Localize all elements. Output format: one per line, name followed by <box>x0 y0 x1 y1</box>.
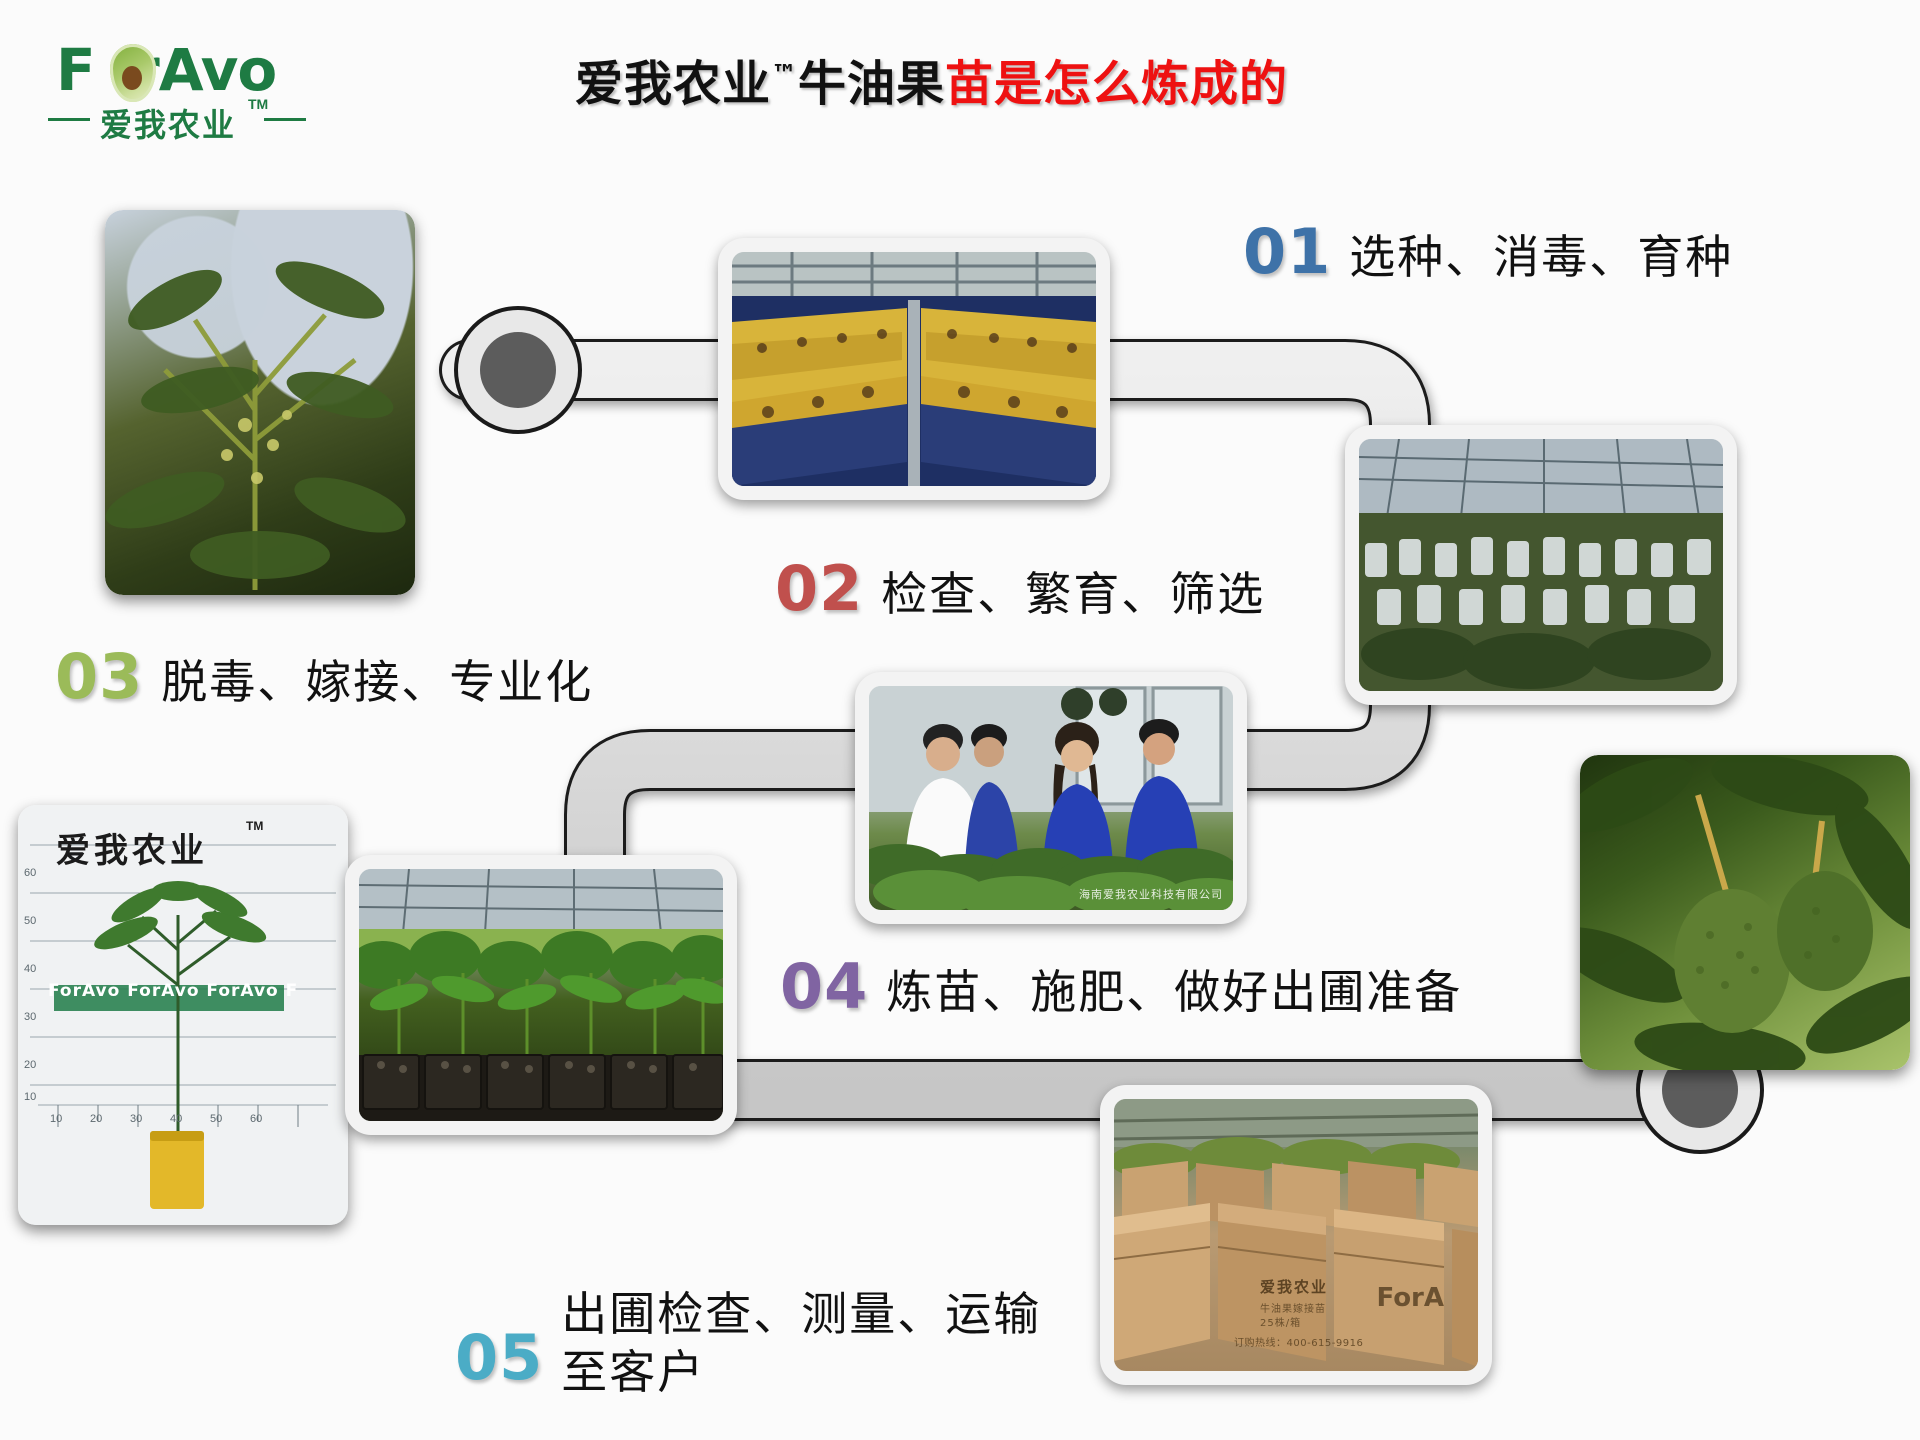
box-quantity-text: 25株/箱 <box>1260 1314 1301 1329</box>
box-right-brand-text: ForA <box>1376 1283 1444 1313</box>
photo-team-inspection: 海南爱我农业科技有限公司 <box>855 672 1247 924</box>
board-tick-10: 10 <box>24 1091 36 1103</box>
photo-grafting-bags-greenhouse <box>1345 425 1737 705</box>
step-01-number: 01 <box>1243 215 1331 288</box>
photo-potted-seedlings-image <box>359 869 723 1121</box>
step-label-04: 04炼苗、施肥、做好出圃准备 <box>780 950 1462 1023</box>
step-label-01: 01选种、消毒、育种 <box>1243 215 1733 288</box>
photo-team-inspection-image: 海南爱我农业科技有限公司 <box>869 686 1233 910</box>
photo-fruit-on-tree <box>1580 755 1910 1070</box>
step-04-number: 04 <box>780 950 868 1023</box>
board-brand-strip: ForAvo ForAvo ForAvo ForA <box>48 981 298 1001</box>
board-tick-60: 60 <box>24 867 36 879</box>
photo-flowering-branch <box>105 210 415 595</box>
step-05-text-block: 出圃检查、测量、运输 至客户 <box>561 1285 1041 1401</box>
photo-potted-seedlings <box>345 855 737 1135</box>
step-02-number: 02 <box>775 552 863 625</box>
photo-flowering-branch-image <box>105 210 415 595</box>
photo-packing-boxes: 爱我农业 牛油果嫁接苗 25株/箱 订购热线：400-615-9916 ForA <box>1100 1085 1492 1385</box>
board-tick-h-20: 20 <box>90 1113 102 1125</box>
step-label-02: 02检查、繁育、筛选 <box>775 552 1265 625</box>
photo-watermark: 海南爱我农业科技有限公司 <box>1079 886 1223 902</box>
photo-fruit-on-tree-image <box>1580 755 1910 1070</box>
step-label-03: 03脱毒、嫁接、专业化 <box>55 640 593 713</box>
step-03-number: 03 <box>55 640 143 713</box>
board-tick-50: 50 <box>24 915 36 927</box>
ribbon-start-cap <box>456 308 580 432</box>
board-tick-h-40: 40 <box>170 1113 182 1125</box>
infographic-canvas: ForAvo 爱我农业 TM 爱我农业™牛油果苗是怎么炼成的 <box>0 0 1920 1440</box>
step-label-05: 05 出圃检查、测量、运输 至客户 <box>455 1285 1041 1401</box>
board-tick-40: 40 <box>24 963 36 975</box>
photo-seed-trays-image <box>732 252 1096 486</box>
box-brand-text: 爱我农业 <box>1260 1276 1328 1297</box>
step-05-text-line1: 出圃检查、测量、运输 <box>561 1285 1041 1343</box>
board-brand-text: 爱我农业 <box>56 823 208 872</box>
box-subtitle-text: 牛油果嫁接苗 <box>1260 1300 1326 1315</box>
step-05-text-line2: 至客户 <box>561 1343 1041 1401</box>
step-03-text: 脱毒、嫁接、专业化 <box>161 655 593 709</box>
box-phone-text: 订购热线：400-615-9916 <box>1234 1334 1363 1349</box>
board-tick-20: 20 <box>24 1059 36 1071</box>
board-tm-mark: TM <box>246 819 263 833</box>
board-tick-h-60: 60 <box>250 1113 262 1125</box>
photo-grafting-bags-image <box>1359 439 1723 691</box>
photo-measuring-board-image: 爱我农业 TM ForAvo ForAvo ForAvo ForA 60 50 … <box>18 805 348 1225</box>
step-01-text: 选种、消毒、育种 <box>1349 230 1733 284</box>
step-05-number: 05 <box>455 1321 543 1394</box>
step-02-text: 检查、繁育、筛选 <box>881 567 1265 621</box>
board-tick-h-50: 50 <box>210 1113 222 1125</box>
board-tick-h-10: 10 <box>50 1113 62 1125</box>
board-tick-30: 30 <box>24 1011 36 1023</box>
step-04-text: 炼苗、施肥、做好出圃准备 <box>886 965 1462 1019</box>
photo-seed-trays-greenhouse <box>718 238 1110 500</box>
board-tick-h-30: 30 <box>130 1113 142 1125</box>
photo-measuring-board: 爱我农业 TM ForAvo ForAvo ForAvo ForA 60 50 … <box>18 805 348 1225</box>
photo-packing-boxes-image: 爱我农业 牛油果嫁接苗 25株/箱 订购热线：400-615-9916 ForA <box>1114 1099 1478 1371</box>
